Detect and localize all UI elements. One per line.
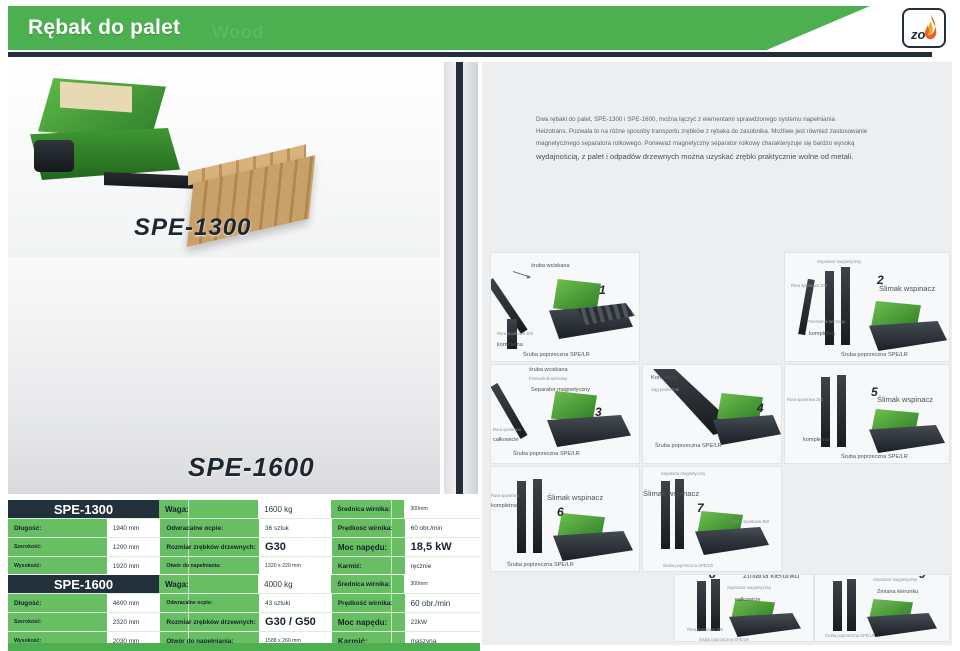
spec-1600-row-0: SPE-1600 Waga: 4000 kg Średnica wirnika:… — [8, 575, 480, 593]
diagram-8-tower-a — [697, 581, 706, 631]
spec-1300-r1-v3: 60 obr./min — [405, 519, 480, 537]
spec-1300-r3-k2: Otwór do napełniania: — [160, 557, 259, 575]
diagram-2-small-b: Przenośnik taśmowy — [807, 319, 845, 324]
diagram-7-small-a: Rura spustowa 360 — [733, 519, 769, 524]
diagram-6-chassis — [553, 531, 633, 561]
diagram-7-label-separator: Separator magnetyczny — [661, 471, 705, 476]
diagram-8-chassis — [729, 613, 801, 637]
header-ghost-text: Wood — [212, 22, 264, 43]
diagram-3-label-cross: Śruba poprzeczna SPE/LR — [513, 451, 580, 457]
diagram-2-small-a: Rura spustowa 200 — [791, 283, 827, 288]
page-spine-bar — [456, 62, 463, 494]
diagram-8-number: 8 — [709, 574, 716, 581]
logo-text: zo — [911, 27, 925, 42]
diagram-5-label-cross: Śruba poprzeczna SPE/LR — [841, 454, 908, 460]
diagram-2-label-cross: Śruba poprzeczna SPE/LR — [841, 352, 908, 358]
description-line-4: wydajnością, z palet i odpadów drzewnych… — [536, 150, 922, 165]
spec-1600-r2-k3: Moc napędu: — [332, 613, 405, 631]
spec-1600-model: SPE-1600 — [8, 575, 159, 593]
diagram-7-number: 7 — [697, 501, 704, 515]
diagram-2-tower-b — [841, 267, 850, 345]
diagram-6-number: 6 — [557, 505, 564, 519]
diagram-2-label-complete: kompletna — [809, 331, 835, 337]
diagram-9-label-separator: Separator magnetyczny — [873, 577, 917, 582]
diagram-7-label-screw-climber: Ślimak wspinacz — [643, 489, 699, 498]
diagram-9-tower-a — [833, 581, 842, 631]
diagram-5-small-a: Rura spustowa 250 — [787, 397, 823, 402]
spec-1300-r1-k2: Odwracalne ocpie: — [160, 519, 259, 537]
diagram-4-label-cross: Śruba poprzeczna SPE/LR — [655, 443, 722, 449]
spec-1600-r0-k2: Waga: — [159, 575, 258, 593]
spec-1600-r0-k3: Średnica wirnika: — [331, 575, 404, 593]
diagram-4-small-a: ciąg podnośnik — [651, 387, 679, 392]
diagram-3-number: 3 — [595, 405, 602, 419]
spec-1300-model: SPE-1300 — [8, 500, 159, 518]
diagram-cell-4[interactable]: 4 Kompletna ciąg podnośnik Śruba poprzec… — [642, 364, 782, 464]
spec-1300-row-2: Szerokość: 1200 mm Rozmiar zrębków drzew… — [8, 538, 480, 556]
spec-1300-r2-v2: G30 — [259, 538, 332, 556]
spec-1300-r0-v2: 1600 kg — [258, 500, 331, 518]
spec-1300-r3-v1: 1920 mm — [107, 557, 161, 575]
diagram-1-label-screw: śruba wciskana — [531, 263, 570, 269]
diagram-6-tower-a — [517, 481, 526, 553]
diagram-5-chassis — [869, 425, 945, 453]
spec-1600-r1-k3: Prędkość wirnika: — [332, 594, 405, 612]
spec-1300-r2-v1: 1200 mm — [107, 538, 161, 556]
spec-1300-r1-k1: Długość: — [8, 519, 107, 537]
spec-1600-r1-k2: Odwracalne ocpie: — [160, 594, 259, 612]
photo-spe-1300: SPE-1300 — [8, 62, 440, 257]
slide-page: Rębak do palet Wood zo SPE-1300 — [0, 0, 960, 651]
diagram-3-label-screw: śruba wciskana — [529, 367, 568, 373]
spec-1300-r3-k1: Wysokość: — [8, 557, 107, 575]
spec-1600-row-2: Szerokość: 2320 mm Rozmiar zrębków drzew… — [8, 613, 480, 631]
diagram-1-small-a: Rura spustowa 200 — [497, 331, 533, 336]
spec-1600-r1-k1: Długość: — [8, 594, 107, 612]
diagram-8-small-a: Rura spustowa 180 — [687, 627, 723, 632]
spec-1300-r2-k3: Moc napędu: — [332, 538, 405, 556]
diagram-5-label-complete: kompletna — [803, 437, 829, 443]
spec-1300-r3-v3: ręcznie — [405, 557, 480, 575]
brand-logo: zo — [902, 8, 946, 48]
description-line-3: magnetycznego separatora rolkowego. Poni… — [536, 138, 922, 150]
diagram-9-label-direction: Zmiana kierunku — [877, 589, 918, 595]
configuration-diagram-grid: 1 śruba wciskana kompletna Rura spustowa… — [484, 252, 952, 643]
spec-1300-r1-v2: 36 sztuk — [259, 519, 332, 537]
diagram-7-label-complete: całkowicie — [733, 529, 759, 535]
header-divider — [8, 52, 932, 57]
spec-1300-r1-k3: Prędkość wirnika: — [332, 519, 405, 537]
spec-1300-r0-k3: Średnica wirnika: — [331, 500, 404, 518]
diagram-6-label-cross: Śruba poprzeczna SPE/LR — [507, 562, 574, 568]
spec-1600-r2-k2: Rozmiar zrębków drzewnych: — [160, 613, 259, 631]
description-block: Dwa rębaki do palet, SPE-1300 i SPE-1600… — [536, 114, 922, 165]
page-title: Rębak do palet — [28, 16, 180, 40]
diagram-cell-7[interactable]: 7 Separator magnetyczny Ślimak wspinacz … — [642, 466, 782, 572]
diagram-8-label-complete: całkowicie — [735, 597, 761, 603]
spec-table-spe-1600: SPE-1600 Waga: 4000 kg Średnica wirnika:… — [8, 575, 480, 649]
spec-1600-r0-v3: 300mm — [404, 575, 480, 593]
diagram-cell-3[interactable]: 3 śruba wciskana Przenośnik taśmowy Sepa… — [490, 364, 640, 464]
spec-1300-row-1: Długość: 1940 mm Odwracalne ocpie: 36 sz… — [8, 519, 480, 537]
diagram-3-label-complete: całkowicie — [493, 437, 519, 443]
chipper-motor — [34, 140, 74, 172]
diagram-9-label-complete: całkowicie — [875, 601, 894, 606]
diagram-1-arrow-a — [513, 271, 530, 278]
diagram-cell-8[interactable]: 8 Zmiana kierunku Separator magnetyczny … — [674, 574, 814, 642]
diagram-cell-1[interactable]: 1 śruba wciskana kompletna Rura spustowa… — [490, 252, 640, 362]
diagram-2-label-separator: Separator magnetyczny — [817, 259, 861, 264]
diagram-9-tower-b — [847, 579, 856, 631]
diagram-8-label-direction: Zmiana kierunku — [743, 574, 799, 580]
spec-1600-r2-v3: 22kW — [405, 613, 480, 631]
hopper-inner — [60, 81, 132, 112]
spec-1300-r3-v2: 1320 x 220 mm — [259, 557, 332, 575]
diagram-6-label-screw-climber: Ślimak wspinacz — [547, 493, 603, 502]
spec-1300-r2-k1: Szerokość: — [8, 538, 107, 556]
spec-1600-r2-v2: G30 / G50 — [259, 613, 332, 631]
diagram-6-small-a: Rura spustowa — [491, 493, 519, 498]
product-photo-column: SPE-1300 SPE - 1600 SPE-1600 — [8, 62, 440, 494]
spec-table-spe-1300: SPE-1300 Waga: 1600 kg Średnica wirnika:… — [8, 500, 480, 574]
spec-1300-row-0: SPE-1300 Waga: 1600 kg Średnica wirnika:… — [8, 500, 480, 518]
page-header: Rębak do palet Wood zo — [0, 0, 960, 56]
diagram-9-number: 9 — [919, 574, 926, 581]
diagram-1-label-complete: kompletna — [497, 342, 523, 348]
diagram-3-label-separator: Separator magnetyczny — [531, 387, 590, 393]
product-label-1600: SPE-1600 — [188, 452, 315, 483]
spec-1600-r1-v2: 43 sztuki — [259, 594, 332, 612]
description-line-2: Heizotrans. Pozwala to na różne sposoby … — [536, 126, 922, 138]
diagram-7-label-cross: Śruba poprzeczna SPE/LR — [663, 563, 713, 568]
diagram-3-label-conveyor: Przenośnik taśmowy — [529, 376, 567, 381]
spec-1600-r2-k1: Szerokość: — [8, 613, 107, 631]
diagram-6-label-complete: kompletna — [491, 503, 517, 509]
diagram-4-number: 4 — [757, 401, 764, 415]
diagram-cell-9[interactable]: 9 Separator magnetyczny Zmiana kierunku … — [814, 574, 950, 642]
spec-1300-r2-k2: Rozmiar zrębków drzewnych: — [160, 538, 259, 556]
diagram-5-label-screw-climber: Ślimak wspinacz — [877, 395, 933, 404]
diagram-1-number: 1 — [599, 283, 606, 297]
diagram-2-chassis — [869, 321, 947, 351]
spec-1600-row-1: Długość: 4600 mm Odwracalne ocpie: 43 sz… — [8, 594, 480, 612]
spec-1300-r0-k2: Waga: — [159, 500, 258, 518]
diagram-8-tower-b — [711, 579, 720, 631]
diagram-8-small-sep: Separator magnetyczny — [727, 585, 771, 590]
diagram-4-chassis — [713, 415, 781, 445]
spec-1300-r0-v3: 300mm — [404, 500, 480, 518]
right-content-panel: Dwa rębaki do palet, SPE-1300 i SPE-1600… — [482, 62, 952, 645]
diagram-cell-6[interactable]: 6 Ślimak wspinacz kompletna Rura spustow… — [490, 466, 640, 572]
spec-1600-r2-v1: 2320 mm — [107, 613, 161, 631]
diagram-4-label-complete: Kompletna — [651, 375, 678, 381]
diagram-1-label-cross: Śruba poprzeczna SPE/LR — [523, 352, 590, 358]
spec-1300-r2-v3: 18,5 kW — [405, 538, 480, 556]
diagram-2-label-screw-climber: Ślimak wspinacz — [879, 284, 935, 293]
diagram-3-chassis — [547, 415, 631, 447]
description-line-1: Dwa rębaki do palet, SPE-1300 i SPE-1600… — [536, 114, 922, 126]
spec-1600-r0-v2: 4000 kg — [258, 575, 331, 593]
diagram-cell-2[interactable]: 2 Separator magnetyczny Ślimak wspinacz … — [784, 252, 950, 362]
diagram-8-label-cross: Śruba poprzeczna SPE/LR — [699, 637, 749, 642]
diagram-9-label-cross: Śruba poprzeczna SPE/LR — [825, 633, 875, 638]
product-label-1300: SPE-1300 — [134, 214, 251, 242]
diagram-6-tower-b — [533, 479, 542, 553]
diagram-9-chassis — [867, 613, 937, 637]
spec-1300-r1-v1: 1940 mm — [107, 519, 161, 537]
spec-1300-row-3: Wysokość: 1920 mm Otwór do napełniania: … — [8, 557, 480, 575]
diagram-5-tower-b — [837, 375, 846, 447]
spec-1600-r1-v1: 4600 mm — [107, 594, 161, 612]
bottom-green-bar — [8, 643, 480, 651]
spec-1600-r1-v3: 60 obr./min — [405, 594, 480, 612]
diagram-3-small-a: Rura spustowa — [493, 427, 521, 432]
spec-1300-r3-k3: Karmić: — [332, 557, 405, 575]
diagram-cell-5[interactable]: 5 Ślimak wspinacz Rura spustowa 250 komp… — [784, 364, 950, 464]
